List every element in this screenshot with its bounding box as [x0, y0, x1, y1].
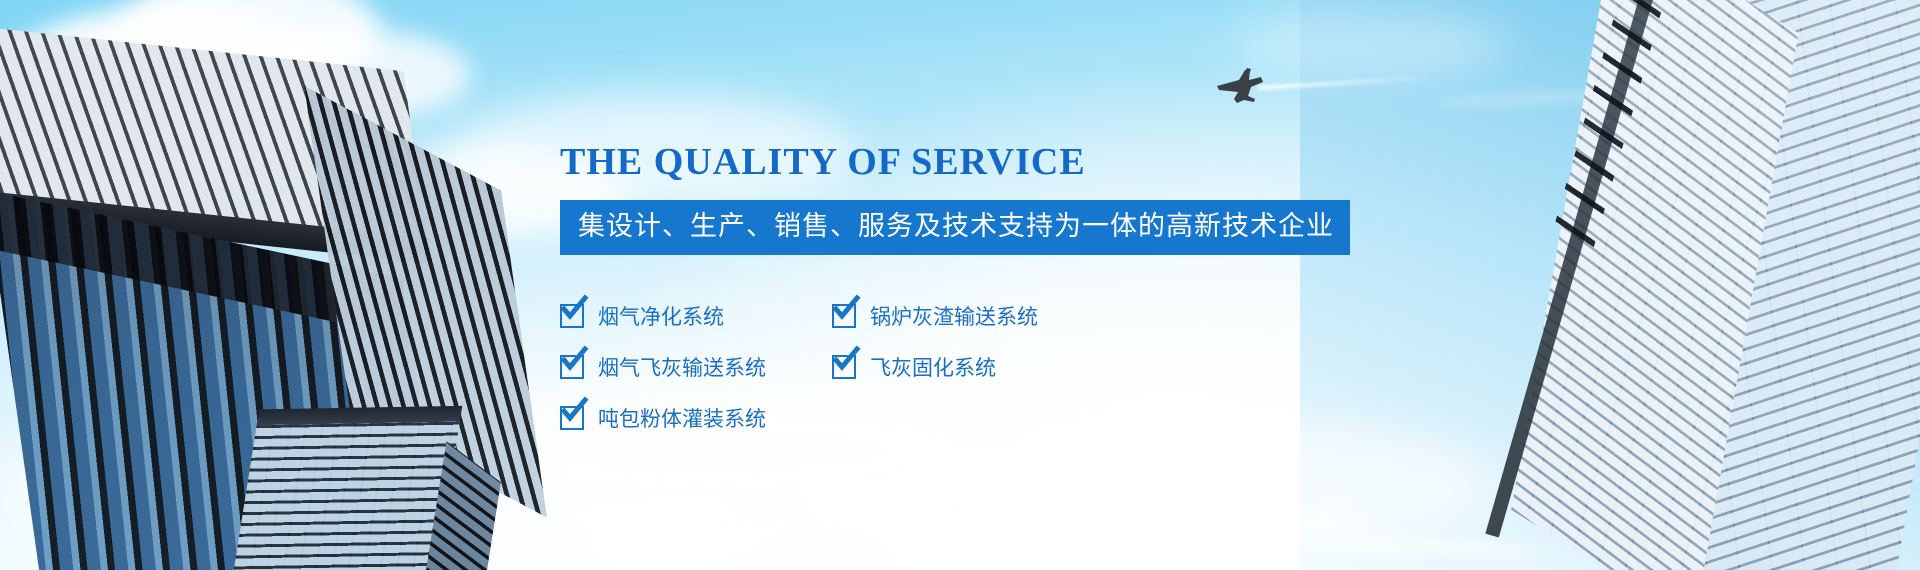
checkbox-checked-icon — [832, 355, 856, 379]
feature-item[interactable]: 飞灰固化系统 — [832, 352, 1172, 382]
feature-label: 烟气净化系统 — [598, 301, 724, 331]
feature-item[interactable]: 烟气飞灰输送系统 — [560, 352, 832, 382]
feature-item[interactable]: 锅炉灰渣输送系统 — [832, 301, 1172, 331]
feature-item[interactable]: 烟气净化系统 — [560, 301, 832, 331]
feature-row: 吨包粉体灌装系统 — [560, 403, 1200, 433]
hero-ribbon: 集设计、生产、销售、服务及技术支持为一体的高新技术企业 — [560, 200, 1350, 255]
feature-row: 烟气净化系统 锅炉灰渣输送系统 — [560, 301, 1200, 331]
checkbox-checked-icon — [560, 406, 584, 430]
cloud — [1230, 10, 1510, 80]
feature-list: 烟气净化系统 锅炉灰渣输送系统 烟气飞灰输送系统 — [560, 301, 1200, 433]
feature-row: 烟气飞灰输送系统 飞灰固化系统 — [560, 352, 1200, 382]
checkbox-checked-icon — [560, 355, 584, 379]
page-title: THE QUALITY OF SERVICE — [560, 140, 1320, 184]
checkbox-checked-icon — [560, 304, 584, 328]
left-small-building-facade — [227, 422, 460, 570]
feature-label: 烟气飞灰输送系统 — [598, 352, 766, 382]
feature-item[interactable]: 吨包粉体灌装系统 — [560, 403, 832, 433]
feature-label: 锅炉灰渣输送系统 — [870, 301, 1038, 331]
hero-banner: THE QUALITY OF SERVICE 集设计、生产、销售、服务及技术支持… — [0, 0, 1920, 570]
feature-label: 飞灰固化系统 — [870, 352, 996, 382]
airplane-icon — [1211, 66, 1269, 106]
feature-label: 吨包粉体灌装系统 — [598, 403, 766, 433]
hero-content: THE QUALITY OF SERVICE 集设计、生产、销售、服务及技术支持… — [560, 140, 1320, 454]
checkbox-checked-icon — [832, 304, 856, 328]
left-small-building — [231, 392, 499, 570]
